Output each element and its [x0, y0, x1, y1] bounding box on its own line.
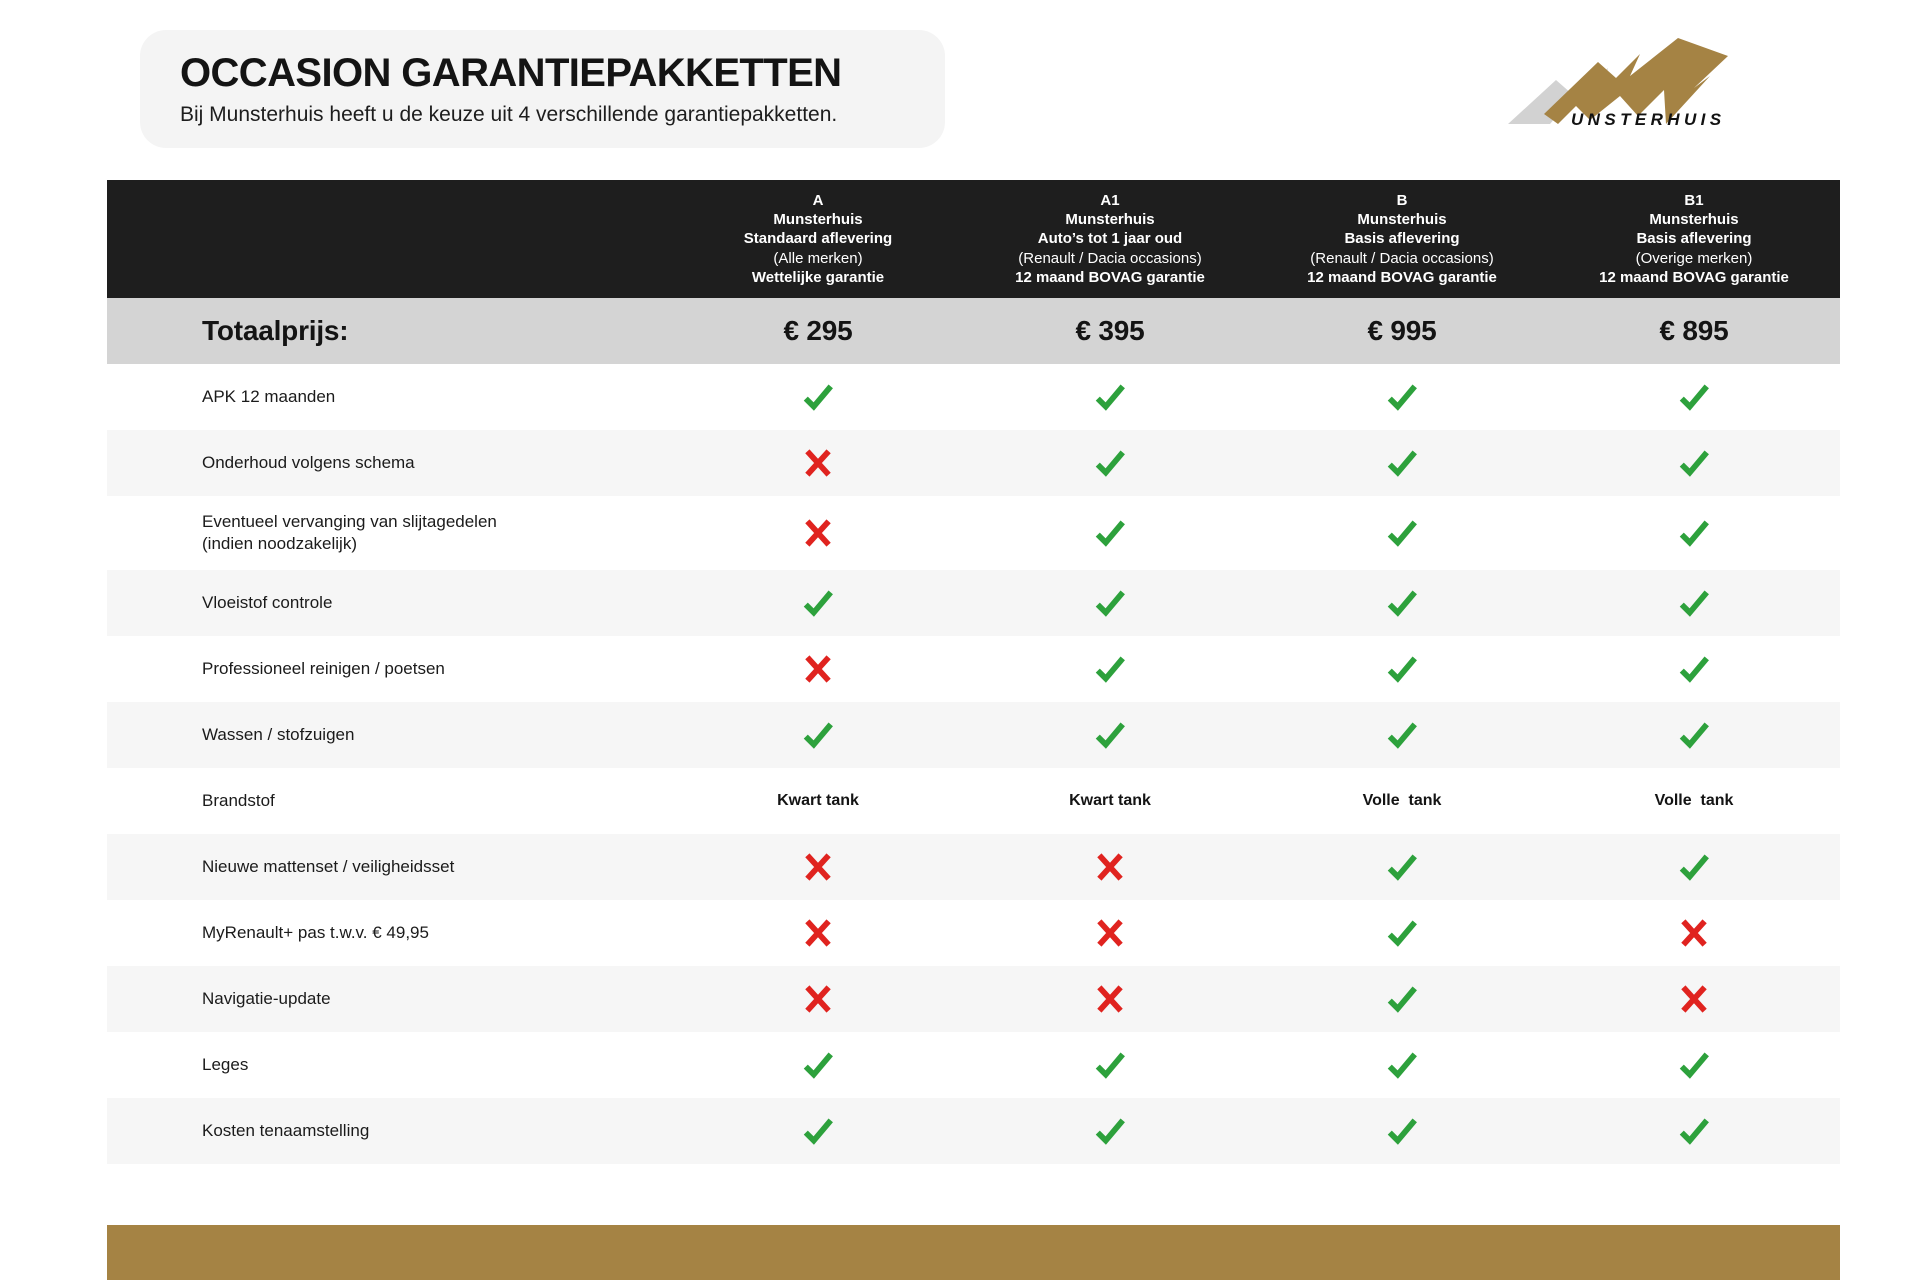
- table-row: APK 12 maanden: [107, 364, 1840, 430]
- column-warranty: 12 maand BOVAG garantie: [1599, 268, 1789, 287]
- column-warranty: 12 maand BOVAG garantie: [1015, 268, 1205, 287]
- cell-value-text: Volle tank: [1363, 792, 1442, 810]
- feature-label-cell: Kosten tenaamstelling: [107, 1098, 672, 1164]
- feature-rows-container: APK 12 maandenOnderhoud volgens schemaEv…: [107, 364, 1840, 1164]
- cell-check-icon: [1256, 702, 1548, 768]
- cell-cross-icon: [672, 834, 964, 900]
- cell-value-text: Volle tank: [1655, 792, 1734, 810]
- column-brand: Munsterhuis: [1649, 210, 1738, 229]
- feature-label-cell: Wassen / stofzuigen: [107, 702, 672, 768]
- table-row: Eventueel vervanging van slijtagedelen(i…: [107, 496, 1840, 570]
- column-code: B: [1397, 191, 1408, 210]
- feature-label-cell: Onderhoud volgens schema: [107, 430, 672, 496]
- cell-value-text: Kwart tank: [1069, 792, 1151, 810]
- munsterhuis-logo: UNSTERHUIS: [1498, 28, 1738, 136]
- cell-check-icon: [1548, 570, 1840, 636]
- cell-check-icon: [1256, 1032, 1548, 1098]
- column-header-a: A Munsterhuis Standaard aflevering (Alle…: [672, 180, 964, 298]
- feature-label-cell: Vloeistof controle: [107, 570, 672, 636]
- cell-cross-icon: [964, 900, 1256, 966]
- feature-label-cell: MyRenault+ pas t.w.v. € 49,95: [107, 900, 672, 966]
- column-type: Basis aflevering: [1344, 229, 1459, 248]
- cell-check-icon: [672, 1032, 964, 1098]
- cell-cross-icon: [964, 834, 1256, 900]
- cell-check-icon: [1548, 636, 1840, 702]
- cell-check-icon: [964, 1098, 1256, 1164]
- table-row: Onderhoud volgens schema: [107, 430, 1840, 496]
- cell-check-icon: [1256, 1098, 1548, 1164]
- cell-check-icon: [1548, 364, 1840, 430]
- feature-label: Navigatie-update: [202, 988, 331, 1010]
- column-warranty: 12 maand BOVAG garantie: [1307, 268, 1497, 287]
- feature-label-cell: APK 12 maanden: [107, 364, 672, 430]
- cell-check-icon: [964, 636, 1256, 702]
- feature-label: Eventueel vervanging van slijtagedelen(i…: [202, 511, 497, 556]
- column-header-b1: B1 Munsterhuis Basis aflevering (Overige…: [1548, 180, 1840, 298]
- column-type: Standaard aflevering: [744, 229, 892, 248]
- cell-cross-icon: [1548, 966, 1840, 1032]
- cell-cross-icon: [1548, 900, 1840, 966]
- cell-check-icon: [1256, 364, 1548, 430]
- column-header-b: B Munsterhuis Basis aflevering (Renault …: [1256, 180, 1548, 298]
- column-warranty: Wettelijke garantie: [752, 268, 884, 287]
- feature-label: Onderhoud volgens schema: [202, 452, 415, 474]
- column-type: Basis aflevering: [1636, 229, 1751, 248]
- table-row: Kosten tenaamstelling: [107, 1098, 1840, 1164]
- cell-check-icon: [964, 430, 1256, 496]
- cell-check-icon: [1548, 430, 1840, 496]
- cell-check-icon: [964, 570, 1256, 636]
- column-brand: Munsterhuis: [1357, 210, 1446, 229]
- cell-check-icon: [1256, 966, 1548, 1032]
- logo-wordmark: UNSTERHUIS: [1571, 110, 1726, 130]
- footer-accent-bar: [107, 1225, 1840, 1280]
- cell-check-icon: [1256, 496, 1548, 570]
- cell-check-icon: [1256, 636, 1548, 702]
- cell-check-icon: [1548, 702, 1840, 768]
- feature-label-cell: Professioneel reinigen / poetsen: [107, 636, 672, 702]
- column-scope: (Renault / Dacia occasions): [1310, 249, 1493, 268]
- cell-cross-icon: [672, 900, 964, 966]
- column-scope: (Renault / Dacia occasions): [1018, 249, 1201, 268]
- price-value: € 895: [1659, 315, 1728, 347]
- total-price-b1: € 895: [1548, 298, 1840, 364]
- table-header-row: A Munsterhuis Standaard aflevering (Alle…: [107, 180, 1840, 298]
- feature-label-cell: Brandstof: [107, 768, 672, 834]
- column-header-a1: A1 Munsterhuis Auto’s tot 1 jaar oud (Re…: [964, 180, 1256, 298]
- title-card: OCCASION GARANTIEPAKKETTEN Bij Munsterhu…: [140, 30, 945, 148]
- total-price-label: Totaalprijs:: [202, 315, 348, 347]
- price-value: € 295: [783, 315, 852, 347]
- table-row: Professioneel reinigen / poetsen: [107, 636, 1840, 702]
- column-code: A1: [1100, 191, 1119, 210]
- total-price-row: Totaalprijs: € 295 € 395 € 995 € 895: [107, 298, 1840, 364]
- total-price-label-cell: Totaalprijs:: [107, 298, 672, 364]
- cell-check-icon: [1256, 834, 1548, 900]
- cell-cross-icon: [672, 966, 964, 1032]
- cell-check-icon: [1256, 900, 1548, 966]
- feature-label: Brandstof: [202, 790, 275, 812]
- feature-label: Kosten tenaamstelling: [202, 1120, 369, 1142]
- table-row: Wassen / stofzuigen: [107, 702, 1840, 768]
- page-title: OCCASION GARANTIEPAKKETTEN: [180, 52, 945, 95]
- feature-label: Nieuwe mattenset / veiligheidsset: [202, 856, 454, 878]
- price-value: € 995: [1367, 315, 1436, 347]
- cell-text-value: Volle tank: [1548, 768, 1840, 834]
- cell-cross-icon: [672, 496, 964, 570]
- price-value: € 395: [1075, 315, 1144, 347]
- cell-check-icon: [964, 496, 1256, 570]
- feature-label: APK 12 maanden: [202, 386, 335, 408]
- cell-check-icon: [1548, 1032, 1840, 1098]
- cell-cross-icon: [672, 430, 964, 496]
- cell-check-icon: [1256, 570, 1548, 636]
- cell-check-icon: [672, 570, 964, 636]
- header-blank-cell: [107, 180, 672, 298]
- cell-check-icon: [1548, 1098, 1840, 1164]
- cell-text-value: Volle tank: [1256, 768, 1548, 834]
- table-row: BrandstofKwart tankKwart tankVolle tankV…: [107, 768, 1840, 834]
- feature-label-cell: Navigatie-update: [107, 966, 672, 1032]
- cell-check-icon: [672, 364, 964, 430]
- table-row: Leges: [107, 1032, 1840, 1098]
- feature-label-cell: Eventueel vervanging van slijtagedelen(i…: [107, 496, 672, 570]
- cell-check-icon: [672, 702, 964, 768]
- column-code: B1: [1684, 191, 1703, 210]
- column-brand: Munsterhuis: [1065, 210, 1154, 229]
- cell-text-value: Kwart tank: [964, 768, 1256, 834]
- table-row: Nieuwe mattenset / veiligheidsset: [107, 834, 1840, 900]
- page-root: OCCASION GARANTIEPAKKETTEN Bij Munsterhu…: [0, 0, 1920, 1280]
- total-price-a1: € 395: [964, 298, 1256, 364]
- feature-label: Vloeistof controle: [202, 592, 332, 614]
- cell-value-text: Kwart tank: [777, 792, 859, 810]
- column-scope: (Overige merken): [1636, 249, 1753, 268]
- column-type: Auto’s tot 1 jaar oud: [1038, 229, 1182, 248]
- cell-check-icon: [1256, 430, 1548, 496]
- total-price-a: € 295: [672, 298, 964, 364]
- cell-check-icon: [964, 702, 1256, 768]
- column-brand: Munsterhuis: [773, 210, 862, 229]
- comparison-table: A Munsterhuis Standaard aflevering (Alle…: [107, 180, 1840, 1164]
- cell-check-icon: [964, 364, 1256, 430]
- page-subtitle: Bij Munsterhuis heeft u de keuze uit 4 v…: [180, 101, 945, 128]
- column-scope: (Alle merken): [773, 249, 862, 268]
- cell-check-icon: [1548, 496, 1840, 570]
- cell-cross-icon: [964, 966, 1256, 1032]
- cell-text-value: Kwart tank: [672, 768, 964, 834]
- feature-label: Wassen / stofzuigen: [202, 724, 354, 746]
- cell-check-icon: [964, 1032, 1256, 1098]
- table-row: MyRenault+ pas t.w.v. € 49,95: [107, 900, 1840, 966]
- feature-label: Leges: [202, 1054, 248, 1076]
- feature-label: MyRenault+ pas t.w.v. € 49,95: [202, 922, 429, 944]
- column-code: A: [813, 191, 824, 210]
- cell-cross-icon: [672, 636, 964, 702]
- cell-check-icon: [672, 1098, 964, 1164]
- page-header: OCCASION GARANTIEPAKKETTEN Bij Munsterhu…: [0, 0, 1920, 170]
- table-row: Vloeistof controle: [107, 570, 1840, 636]
- total-price-b: € 995: [1256, 298, 1548, 364]
- feature-label-cell: Nieuwe mattenset / veiligheidsset: [107, 834, 672, 900]
- cell-check-icon: [1548, 834, 1840, 900]
- table-row: Navigatie-update: [107, 966, 1840, 1032]
- feature-label: Professioneel reinigen / poetsen: [202, 658, 445, 680]
- feature-label-cell: Leges: [107, 1032, 672, 1098]
